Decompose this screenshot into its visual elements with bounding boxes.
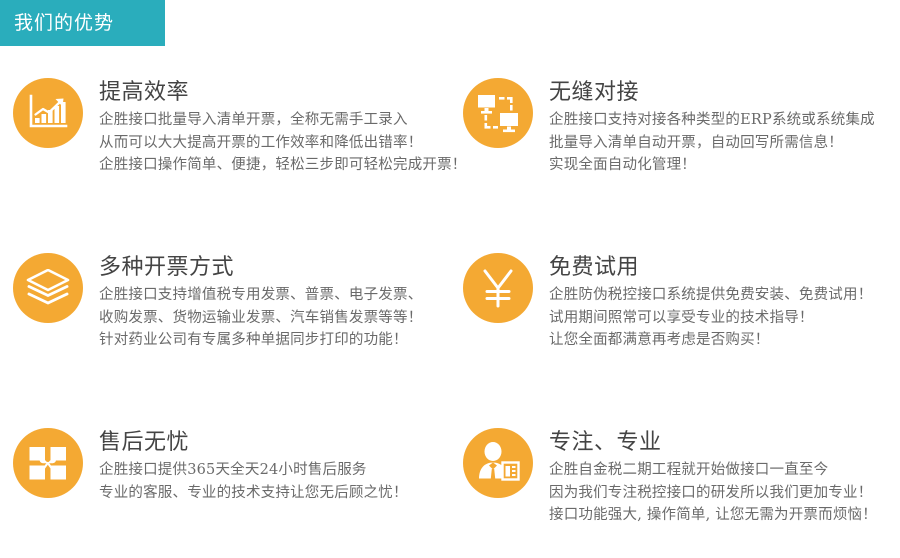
feature-description: 企胜接口提供365天全天24小时售后服务 专业的客服、专业的技术支持让您无后顾之…: [99, 459, 408, 504]
section-banner-label: 我们的优势: [14, 14, 114, 33]
feature-description: 企胜接口支持对接各种类型的ERP系统或系统集成 批量导入清单自动开票，自动回写所…: [549, 109, 875, 176]
feature-description: 企胜接口批量导入清单开票，全称无需手工录入 从而可以大大提高开票的工作效率和降低…: [99, 109, 467, 176]
feature-item-free-trial: 免费试用 企胜防伪税控接口系统提供免费安装、免费试用！ 试用期间照常可以享受专业…: [450, 235, 900, 410]
feature-line: 批量导入清单自动开票，自动回写所需信息！: [549, 132, 875, 154]
feature-line: 企胜接口批量导入清单开票，全称无需手工录入: [99, 109, 467, 131]
feature-title: 无缝对接: [549, 79, 875, 106]
professional-person-document-icon: [463, 428, 533, 498]
feature-item-efficiency: 提高效率 企胜接口批量导入清单开票，全称无需手工录入 从而可以大大提高开票的工作…: [0, 60, 450, 235]
feature-text: 售后无忧 企胜接口提供365天全天24小时售后服务 专业的客服、专业的技术支持让…: [99, 428, 408, 504]
feature-line: 企胜防伪税控接口系统提供免费安装、免费试用！: [549, 284, 872, 306]
layers-stack-icon: [13, 253, 83, 323]
feature-line: 企胜自金税二期工程就开始做接口一直至今: [549, 459, 877, 481]
yuan-currency-icon: [463, 253, 533, 323]
feature-item-professional: 专注、专业 企胜自金税二期工程就开始做接口一直至今 因为我们专注税控接口的研发所…: [450, 410, 900, 558]
feature-description: 企胜防伪税控接口系统提供免费安装、免费试用！ 试用期间照常可以享受专业的技术指导…: [549, 284, 872, 351]
feature-item-invoice-types: 多种开票方式 企胜接口支持增值税专用发票、普票、电子发票、 收购发票、货物运输业…: [0, 235, 450, 410]
feature-line: 企胜接口操作简单、便捷，轻松三步即可轻松完成开票！: [99, 154, 467, 176]
feature-text: 提高效率 企胜接口批量导入清单开票，全称无需手工录入 从而可以大大提高开票的工作…: [99, 78, 467, 177]
feature-line: 专业的客服、专业的技术支持让您无后顾之忧！: [99, 482, 408, 504]
feature-item-seamless-integration: 无缝对接 企胜接口支持对接各种类型的ERP系统或系统集成 批量导入清单自动开票，…: [450, 60, 900, 235]
feature-line: 企胜接口支持对接各种类型的ERP系统或系统集成: [549, 109, 875, 131]
feature-line: 让您全面都满意再考虑是否购买！: [549, 329, 872, 351]
feature-grid: 提高效率 企胜接口批量导入清单开票，全称无需手工录入 从而可以大大提高开票的工作…: [0, 60, 900, 558]
bar-chart-growth-icon: [13, 78, 83, 148]
section-banner: 我们的优势: [0, 0, 165, 46]
feature-text: 专注、专业 企胜自金税二期工程就开始做接口一直至今 因为我们专注税控接口的研发所…: [549, 428, 877, 527]
feature-line: 试用期间照常可以享受专业的技术指导！: [549, 307, 872, 329]
feature-text: 免费试用 企胜防伪税控接口系统提供免费安装、免费试用！ 试用期间照常可以享受专业…: [549, 253, 872, 352]
feature-title: 专注、专业: [549, 429, 877, 456]
feature-line: 针对药业公司有专属多种单据同步打印的功能！: [99, 329, 422, 351]
feature-line: 企胜接口提供365天全天24小时售后服务: [99, 459, 408, 481]
feature-line: 从而可以大大提高开票的工作效率和降低出错率！: [99, 132, 467, 154]
feature-text: 多种开票方式 企胜接口支持增值税专用发票、普票、电子发票、 收购发票、货物运输业…: [99, 253, 422, 352]
feature-line: 因为我们专注税控接口的研发所以我们更加专业！: [549, 482, 877, 504]
connected-monitors-icon: [463, 78, 533, 148]
feature-title: 多种开票方式: [99, 254, 422, 281]
gift-box-icon: [13, 428, 83, 498]
feature-line: 收购发票、货物运输业发票、汽车销售发票等等！: [99, 307, 422, 329]
feature-line: 企胜接口支持增值税专用发票、普票、电子发票、: [99, 284, 422, 306]
feature-line: 实现全面自动化管理！: [549, 154, 875, 176]
feature-line: 接口功能强大, 操作简单, 让您无需为开票而烦恼！: [549, 504, 877, 526]
feature-text: 无缝对接 企胜接口支持对接各种类型的ERP系统或系统集成 批量导入清单自动开票，…: [549, 78, 875, 177]
feature-item-after-sales: 售后无忧 企胜接口提供365天全天24小时售后服务 专业的客服、专业的技术支持让…: [0, 410, 450, 558]
feature-title: 免费试用: [549, 254, 872, 281]
feature-title: 售后无忧: [99, 429, 408, 456]
feature-description: 企胜接口支持增值税专用发票、普票、电子发票、 收购发票、货物运输业发票、汽车销售…: [99, 284, 422, 351]
feature-title: 提高效率: [99, 79, 467, 106]
feature-description: 企胜自金税二期工程就开始做接口一直至今 因为我们专注税控接口的研发所以我们更加专…: [549, 459, 877, 526]
